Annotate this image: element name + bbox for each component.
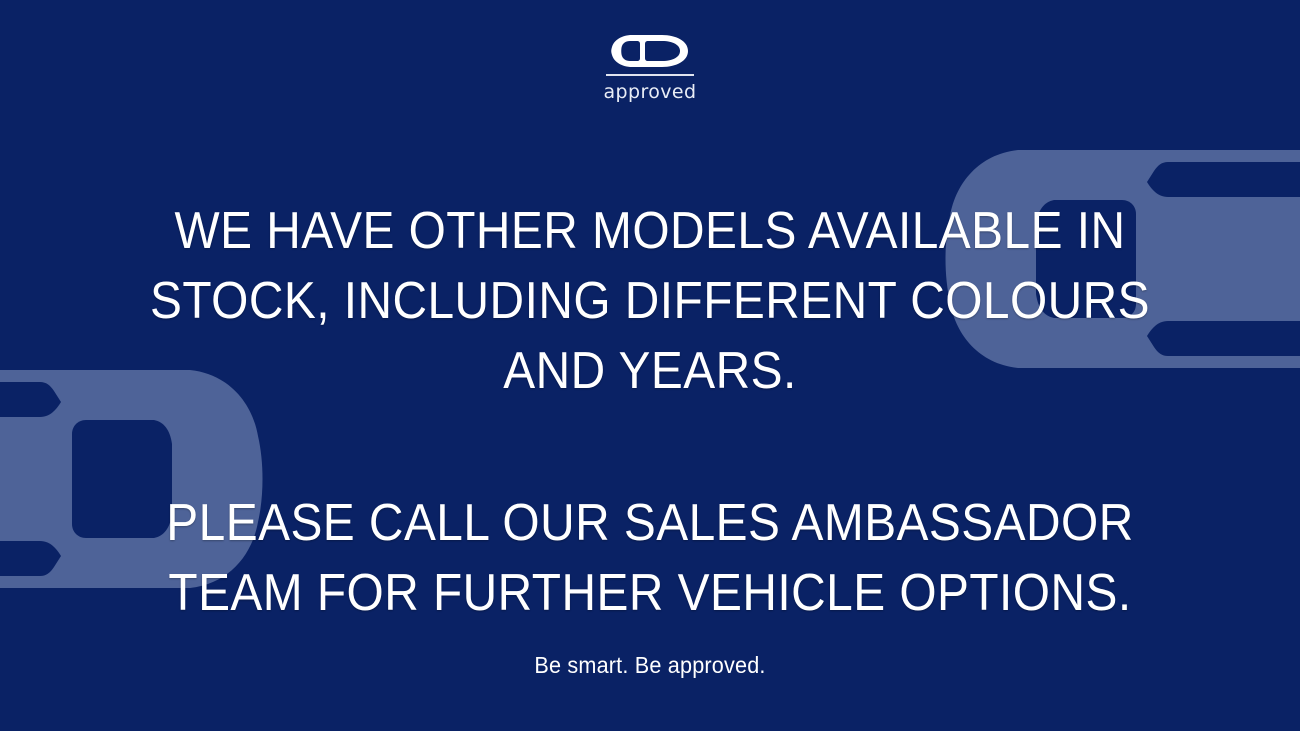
promo-slide: approved WE HAVE OTHER MODELS AVAILABLE … bbox=[0, 0, 1300, 731]
message-block: WE HAVE OTHER MODELS AVAILABLE IN STOCK,… bbox=[0, 196, 1300, 628]
car-top-view-icon bbox=[610, 34, 690, 68]
headline-secondary: PLEASE CALL OUR SALES AMBASSADOR TEAM FO… bbox=[116, 488, 1183, 628]
tagline: Be smart. Be approved. bbox=[39, 652, 1261, 679]
brand-logo: approved bbox=[0, 34, 1300, 103]
brand-wordmark: approved bbox=[604, 81, 697, 103]
headline-primary: WE HAVE OTHER MODELS AVAILABLE IN STOCK,… bbox=[116, 196, 1183, 406]
logo-divider bbox=[606, 74, 694, 76]
